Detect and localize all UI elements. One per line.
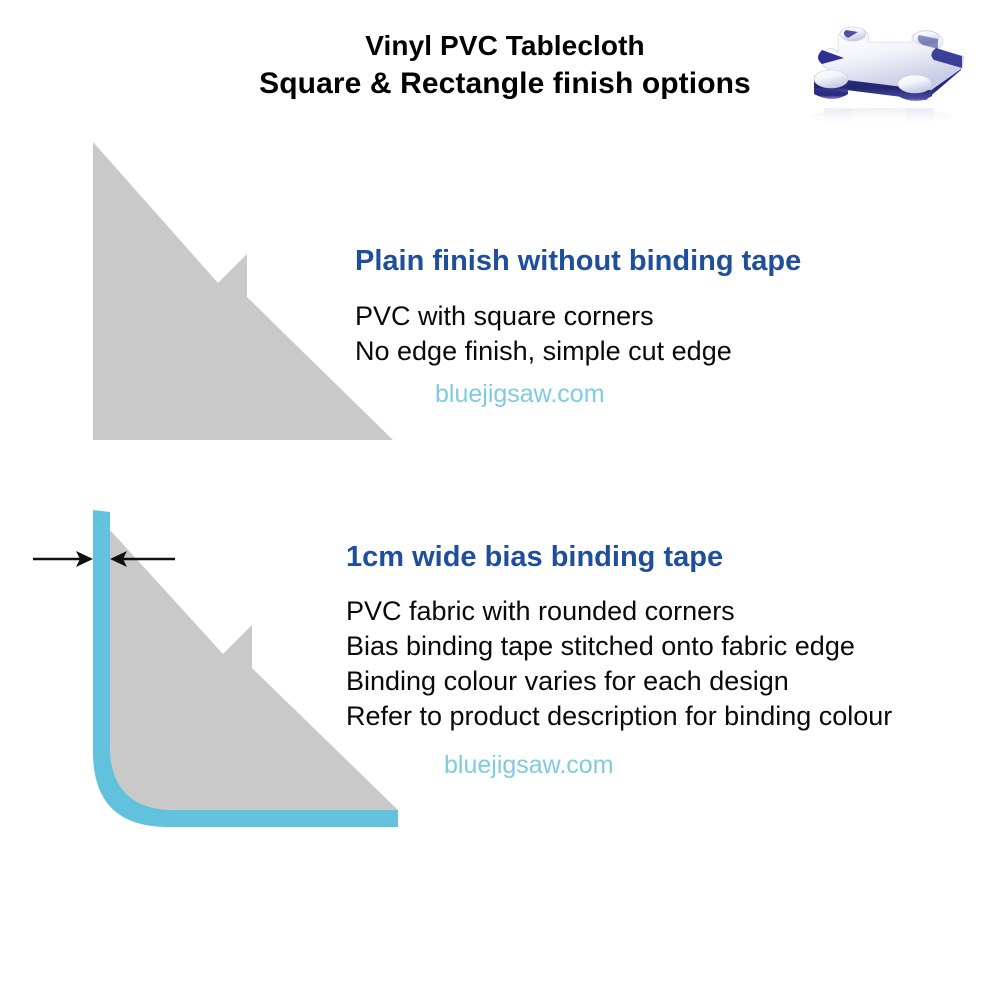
rounded-corner-fabric-swatch-with-binding [33,510,398,827]
plain-finish-line-1: PVC with square corners [355,299,801,334]
bias-binding-description: PVC fabric with rounded corners Bias bin… [346,594,892,782]
bias-binding-line-3: Binding colour varies for each design [346,664,892,699]
finish-diagrams [0,0,1000,1000]
section-bias-binding: 1cm wide bias binding tape PVC fabric wi… [346,542,892,782]
bias-binding-line-4: Refer to product description for binding… [346,699,892,734]
plain-finish-line-2: No edge finish, simple cut edge [355,334,801,369]
puzzle-piece-icon [786,18,986,128]
section-plain-finish: Plain finish without binding tape PVC wi… [355,246,801,411]
plain-finish-website-link[interactable]: bluejigsaw.com [355,369,801,411]
bias-binding-line-1: PVC fabric with rounded corners [346,594,892,629]
bias-binding-website-link[interactable]: bluejigsaw.com [346,734,892,782]
plain-finish-description: PVC with square corners No edge finish, … [355,299,801,411]
bias-binding-line-2: Bias binding tape stitched onto fabric e… [346,629,892,664]
square-corner-fabric-swatch [93,142,393,440]
bias-binding-heading: 1cm wide bias binding tape [346,542,892,574]
width-measurement-arrows [33,551,175,567]
page-root: Vinyl PVC Tablecloth Square & Rectangle … [0,0,1000,1000]
bluejigsaw-puzzle-piece-logo [786,18,986,128]
plain-finish-heading: Plain finish without binding tape [355,246,801,278]
